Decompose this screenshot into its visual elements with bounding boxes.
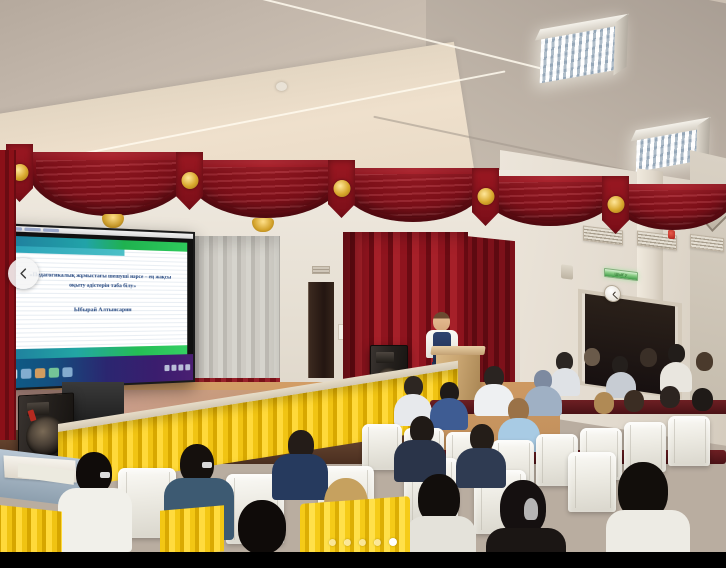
audience-body — [272, 454, 328, 500]
tray-icon — [178, 364, 183, 370]
slide-author: Ыбырай Алтынсарин — [10, 307, 187, 314]
valance-tab — [472, 168, 499, 226]
hair-clip-icon — [202, 462, 212, 468]
audience-head — [696, 352, 713, 371]
letterbox-bar — [0, 552, 726, 568]
tray-icon — [171, 365, 176, 371]
chair — [668, 416, 710, 466]
valance-swag — [186, 160, 346, 218]
valance-tab — [176, 152, 203, 210]
tray-icon — [185, 364, 190, 370]
carousel-dot-4[interactable] — [374, 539, 381, 546]
valance-swag — [26, 152, 194, 216]
chair — [568, 452, 616, 512]
audience-body — [524, 386, 562, 416]
slide-quote: «Педагогикалық жұмыстағы шешуші нәрсе – … — [26, 271, 175, 292]
valance-tab — [602, 176, 629, 234]
gold-medallion-icon — [181, 172, 198, 189]
ceiling-fixture-knob — [276, 82, 287, 91]
audience-head — [624, 390, 644, 412]
audience-body — [430, 398, 468, 430]
system-tray — [165, 364, 191, 371]
taskbar-app-icon — [21, 368, 32, 378]
valance-swag — [338, 168, 488, 222]
carousel-dot-1[interactable] — [329, 539, 336, 546]
audience-head — [668, 344, 685, 363]
speaker-tweeter — [376, 352, 394, 363]
valance-tassel — [102, 214, 124, 228]
light-side — [613, 14, 628, 76]
carousel-pagination[interactable] — [0, 538, 726, 546]
projection-screen: «Педагогикалық жұмыстағы шешуші нәрсе – … — [1, 223, 195, 391]
gold-medallion-icon — [477, 188, 494, 205]
hair-clip-icon — [100, 472, 110, 478]
tray-icon — [165, 365, 170, 371]
audience-head — [692, 388, 713, 411]
chevron-left-icon — [17, 267, 30, 280]
gold-medallion-icon — [607, 196, 624, 213]
hair-ornament-icon — [524, 498, 538, 520]
valance-swag — [480, 176, 620, 226]
taskbar-app-icon — [62, 367, 72, 377]
audience-body — [406, 516, 476, 552]
stage-door — [308, 282, 334, 378]
audience-head — [594, 392, 614, 414]
carousel-dot-5[interactable] — [389, 538, 397, 546]
audience-head — [640, 348, 657, 367]
valance-tab — [328, 160, 355, 218]
podium-top — [430, 346, 485, 355]
wall-fixture — [561, 264, 573, 280]
ventilation-grille — [312, 266, 330, 274]
clock-minute-hand — [612, 294, 617, 299]
taskbar-app-icon — [49, 367, 59, 377]
gold-medallion-icon — [333, 180, 350, 197]
carousel-prev-button[interactable] — [8, 258, 39, 289]
audience-head — [584, 348, 600, 366]
toolbar-item — [24, 228, 40, 231]
photo-image: ШЫҒУ — [0, 0, 726, 552]
photo-carousel-viewer[interactable]: ШЫҒУ — [0, 0, 726, 568]
audience-body — [456, 448, 506, 488]
valance-tassel — [252, 218, 274, 232]
audience-head — [660, 386, 680, 408]
carousel-dot-3[interactable] — [359, 539, 366, 546]
toolbar-item — [43, 229, 59, 232]
presenter-head — [433, 312, 450, 331]
taskbar-app-icon — [35, 368, 45, 378]
presentation-slide: «Педагогикалық жұмыстағы шешуші нәрсе – … — [10, 236, 187, 359]
carousel-dot-2[interactable] — [344, 539, 351, 546]
stage-curtain-red — [0, 150, 16, 440]
